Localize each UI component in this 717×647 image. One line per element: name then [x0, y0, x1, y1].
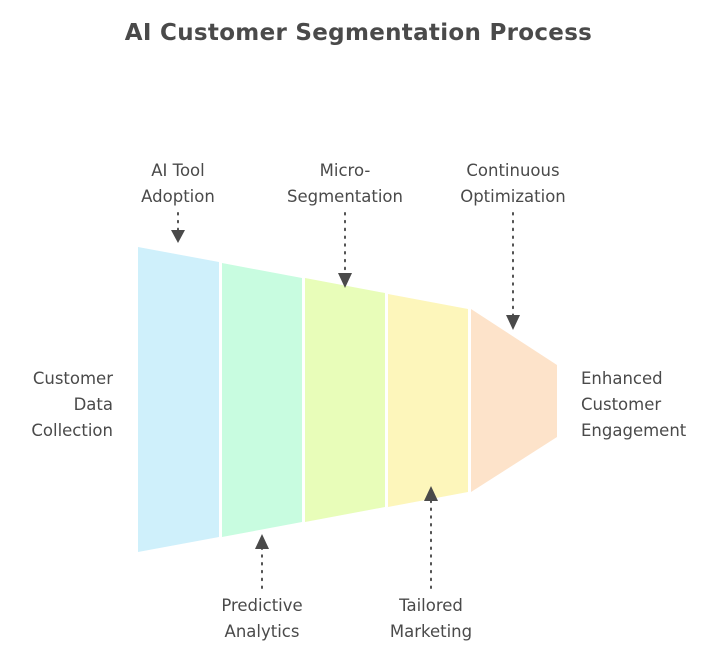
connector-tailored-marketing [424, 486, 438, 588]
funnel-diagram: AI Customer Segmentation Process [0, 0, 717, 647]
connector-predictive-analytics [255, 534, 269, 588]
funnel-canvas [0, 0, 717, 647]
funnel-segment-1[interactable] [138, 247, 219, 552]
funnel-segment-5[interactable] [471, 309, 557, 492]
label-tailored-marketing: Tailored Marketing [351, 593, 511, 645]
connector-continuous-optimization [506, 213, 520, 330]
label-customer-data-collection: Customer Data Collection [0, 366, 113, 444]
label-ai-tool-adoption: AI Tool Adoption [98, 158, 258, 210]
label-micro-segmentation: Micro- Segmentation [265, 158, 425, 210]
label-continuous-optimization: Continuous Optimization [433, 158, 593, 210]
funnel-segment-2[interactable] [222, 263, 302, 537]
connector-ai-tool-adoption [171, 213, 185, 243]
funnel-segment-3[interactable] [305, 278, 385, 522]
label-enhanced-customer-engagement: Enhanced Customer Engagement [581, 366, 717, 444]
connector-micro-segmentation [338, 213, 352, 288]
funnel-segment-4[interactable] [388, 294, 468, 507]
label-predictive-analytics: Predictive Analytics [182, 593, 342, 645]
